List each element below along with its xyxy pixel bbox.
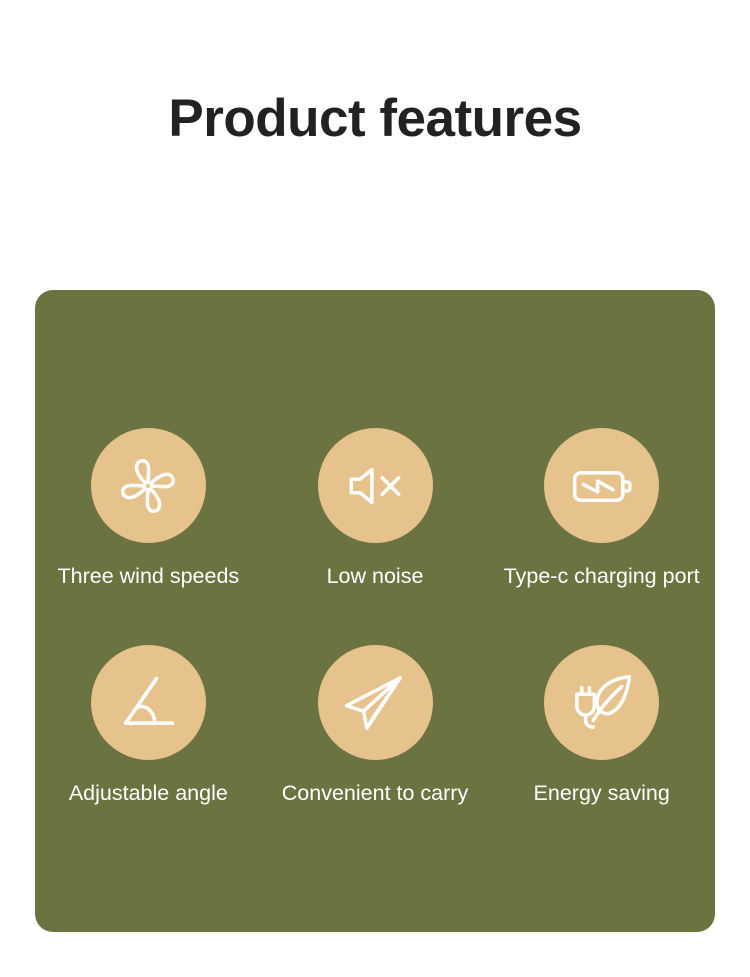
feature-label: Low noise [327,564,424,590]
feature-item-energy-saving[interactable]: Energy saving [488,645,715,807]
feature-label: Convenient to carry [282,781,468,807]
feature-row: Adjustable angle Convenient to carry [35,645,715,807]
feature-row: Three wind speeds Low noise Type-c c [35,428,715,590]
feature-label: Three wind speeds [58,564,240,590]
features-panel: Three wind speeds Low noise Type-c c [35,290,715,932]
feature-item-adjustable-angle[interactable]: Adjustable angle [35,645,262,807]
feature-item-type-c-charging-port[interactable]: Type-c charging port [488,428,715,590]
feature-label: Adjustable angle [69,781,228,807]
feature-label: Type-c charging port [504,564,700,590]
feature-label: Energy saving [534,781,670,807]
page-title: Product features [0,90,750,148]
feature-item-convenient-to-carry[interactable]: Convenient to carry [262,645,489,807]
speaker-mute-icon [318,428,433,543]
eco-plug-icon [544,645,659,760]
paper-plane-icon [318,645,433,760]
fan-icon [91,428,206,543]
feature-item-three-wind-speeds[interactable]: Three wind speeds [35,428,262,590]
battery-charging-icon [544,428,659,543]
angle-icon [91,645,206,760]
feature-item-low-noise[interactable]: Low noise [262,428,489,590]
